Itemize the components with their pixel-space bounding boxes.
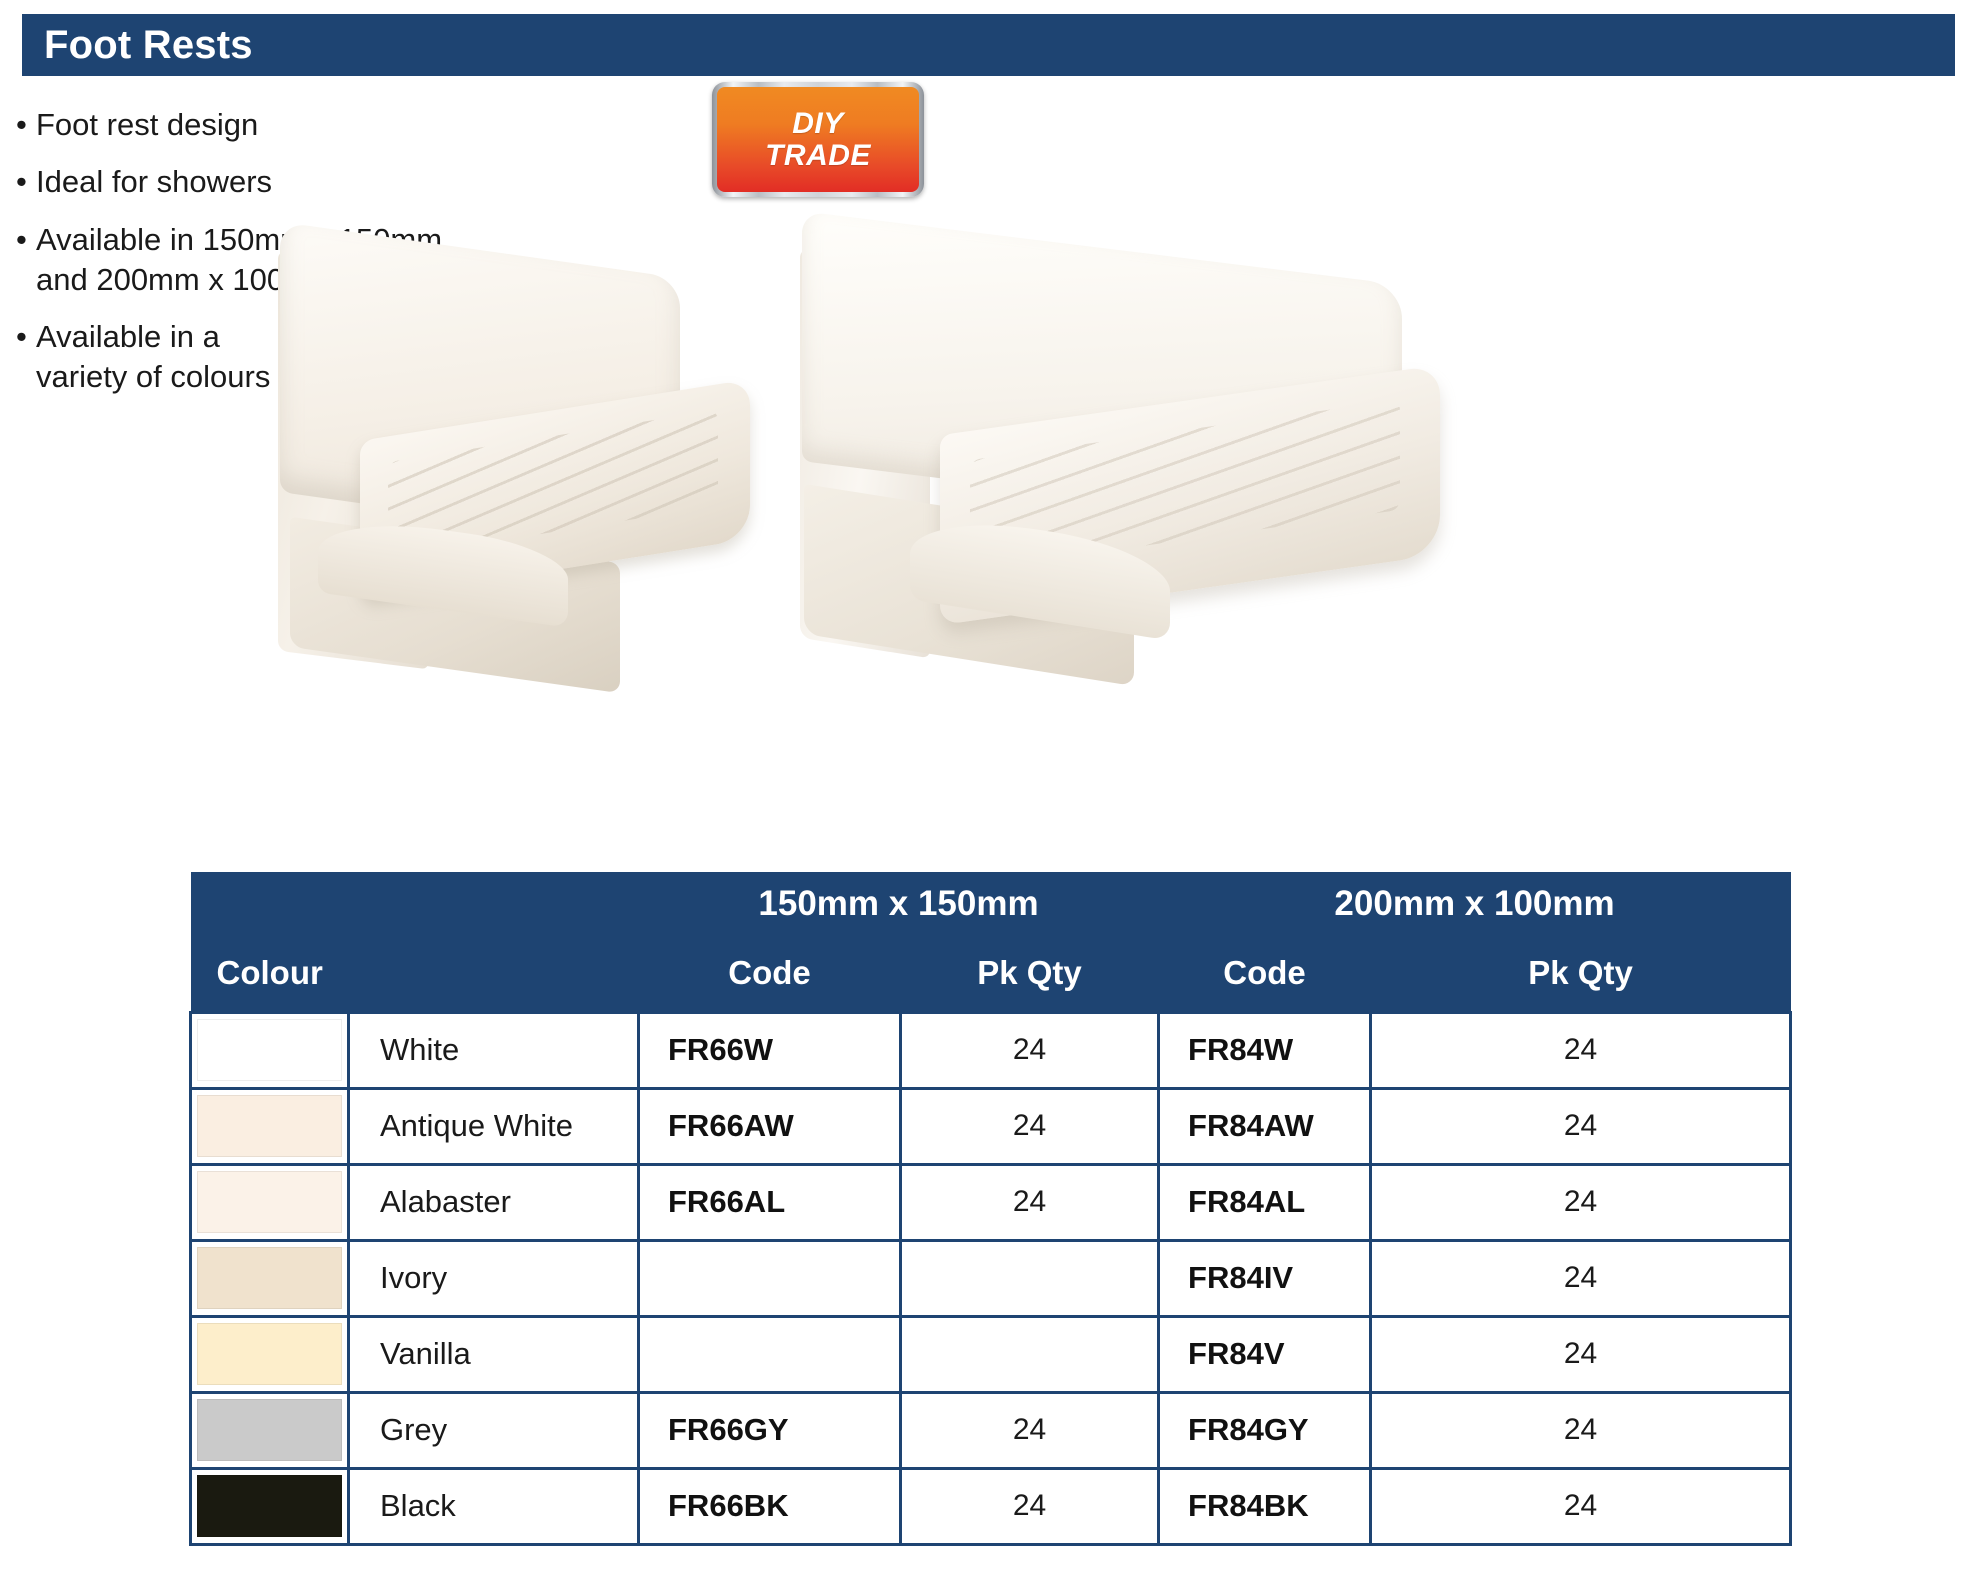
pkqty-200-cell: 24 [1371,1240,1791,1316]
colour-swatch [197,1019,342,1081]
page-title: Foot Rests [44,23,253,68]
table-header: 150mm x 150mm 200mm x 100mm Colour Code … [191,872,1791,1012]
colour-name-cell: Black [349,1468,639,1544]
header-column-pkqty-200: Pk Qty [1371,936,1791,1012]
bullet-icon: • [16,220,36,260]
pkqty-150-cell: 24 [901,1164,1159,1240]
colour-swatch-cell [191,1316,349,1392]
colour-name-cell: Antique White [349,1088,639,1164]
code-200-cell: FR84V [1159,1316,1371,1392]
diy-trade-badge: DIY TRADE [712,82,924,197]
feature-item-label: Ideal for showers [36,162,516,202]
product-image-foot-rest-200 [790,230,1450,680]
pkqty-200-cell: 24 [1371,1012,1791,1088]
code-150-cell: FR66AW [639,1088,901,1164]
table-row: BlackFR66BK24FR84BK24 [191,1468,1791,1544]
page-header-bar: Foot Rests [22,14,1955,76]
header-group-size-200: 200mm x 100mm [1159,872,1791,936]
badge-line-diy: DIY [792,108,844,140]
colour-swatch-cell [191,1164,349,1240]
code-200-cell: FR84IV [1159,1240,1371,1316]
bullet-icon: • [16,162,36,202]
code-150-cell [639,1240,901,1316]
bullet-icon: • [16,105,36,145]
colour-swatch-cell [191,1392,349,1468]
pkqty-150-cell [901,1316,1159,1392]
header-column-colour: Colour [191,936,639,1012]
colour-name-cell: White [349,1012,639,1088]
colour-swatch-cell [191,1468,349,1544]
colour-swatch [197,1475,342,1537]
code-200-cell: FR84AL [1159,1164,1371,1240]
table-row: Antique WhiteFR66AW24FR84AW24 [191,1088,1791,1164]
code-200-cell: FR84BK [1159,1468,1371,1544]
colour-swatch [197,1323,342,1385]
colour-swatch [197,1247,342,1309]
colour-name-cell: Grey [349,1392,639,1468]
product-image-stage [240,230,1460,690]
table-row: VanillaFR84V24 [191,1316,1791,1392]
table-row: GreyFR66GY24FR84GY24 [191,1392,1791,1468]
header-column-code-150: Code [639,936,901,1012]
table-row: IvoryFR84IV24 [191,1240,1791,1316]
colour-name-cell: Vanilla [349,1316,639,1392]
table-row: AlabasterFR66AL24FR84AL24 [191,1164,1791,1240]
table-header-column-row: Colour Code Pk Qty Code Pk Qty [191,936,1791,1012]
badge-line-trade: TRADE [765,140,871,172]
pkqty-150-cell: 24 [901,1088,1159,1164]
pkqty-200-cell: 24 [1371,1164,1791,1240]
table-row: WhiteFR66W24FR84W24 [191,1012,1791,1088]
pkqty-200-cell: 24 [1371,1392,1791,1468]
colour-swatch-cell [191,1012,349,1088]
product-specification-table: 150mm x 150mm 200mm x 100mm Colour Code … [189,872,1792,1546]
header-group-size-150: 150mm x 150mm [639,872,1159,936]
code-150-cell: FR66GY [639,1392,901,1468]
bullet-icon: • [16,317,36,357]
colour-swatch [197,1095,342,1157]
header-spacer-colour [349,872,639,936]
product-image-foot-rest-150 [260,240,760,680]
colour-swatch-cell [191,1240,349,1316]
code-150-cell: FR66AL [639,1164,901,1240]
feature-item-label: Foot rest design [36,105,516,145]
code-200-cell: FR84W [1159,1012,1371,1088]
code-150-cell [639,1316,901,1392]
colour-name-cell: Alabaster [349,1164,639,1240]
table-header-group-row: 150mm x 150mm 200mm x 100mm [191,872,1791,936]
pkqty-150-cell [901,1240,1159,1316]
feature-item: •Ideal for showers [16,162,516,202]
pkqty-200-cell: 24 [1371,1316,1791,1392]
colour-swatch [197,1399,342,1461]
colour-name-cell: Ivory [349,1240,639,1316]
pkqty-200-cell: 24 [1371,1088,1791,1164]
pkqty-150-cell: 24 [901,1468,1159,1544]
header-column-pkqty-150: Pk Qty [901,936,1159,1012]
table-body: WhiteFR66W24FR84W24Antique WhiteFR66AW24… [191,1012,1791,1544]
colour-swatch-cell [191,1088,349,1164]
pkqty-150-cell: 24 [901,1012,1159,1088]
pkqty-150-cell: 24 [901,1392,1159,1468]
colour-swatch [197,1171,342,1233]
pkqty-200-cell: 24 [1371,1468,1791,1544]
header-column-code-200: Code [1159,936,1371,1012]
code-150-cell: FR66BK [639,1468,901,1544]
code-150-cell: FR66W [639,1012,901,1088]
code-200-cell: FR84GY [1159,1392,1371,1468]
code-200-cell: FR84AW [1159,1088,1371,1164]
diy-trade-badge-inner: DIY TRADE [717,87,919,192]
feature-item: •Foot rest design [16,105,516,145]
header-spacer-swatch [191,872,349,936]
